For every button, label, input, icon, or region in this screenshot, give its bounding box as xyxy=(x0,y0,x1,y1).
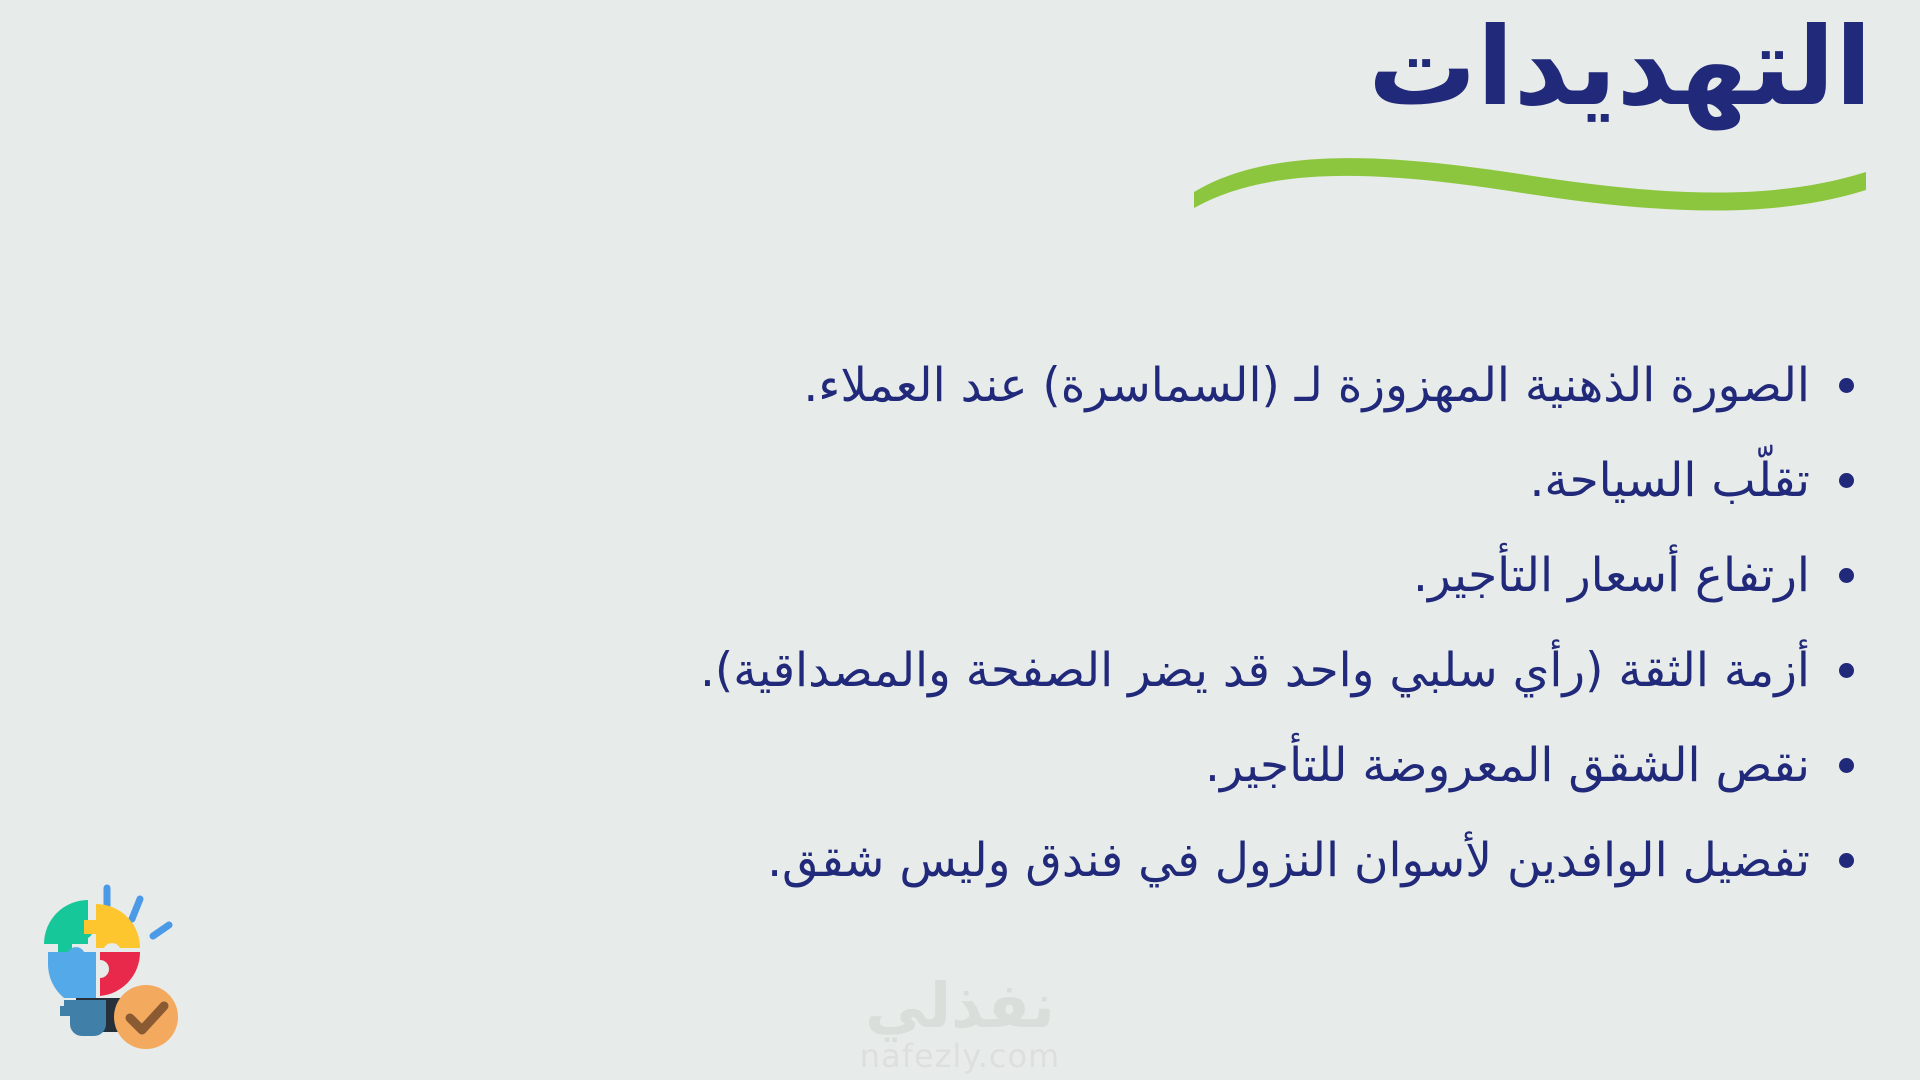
list-item: الصورة الذهنية المهزوزة لـ (السماسرة) عن… xyxy=(64,338,1864,433)
bullet-dot-icon xyxy=(1839,663,1854,678)
puzzle-lightbulb-svg xyxy=(24,882,214,1072)
bullet-dot-icon xyxy=(1839,473,1854,488)
check-badge-circle xyxy=(114,985,178,1049)
green-wave-divider-icon xyxy=(1190,150,1870,220)
slide-canvas: التهديدات الصورة الذهنية المهزوزة لـ (ال… xyxy=(0,0,1920,1080)
bullet-dot-icon xyxy=(1839,853,1854,868)
watermark: نفذلي nafezly.com xyxy=(0,975,1920,1074)
list-item: أزمة الثقة (رأي سلبي واحد قد يضر الصفحة … xyxy=(64,623,1864,718)
bullet-dot-icon xyxy=(1839,758,1854,773)
puzzle-piece-blue xyxy=(48,947,96,998)
list-item-label: ارتفاع أسعار التأجير. xyxy=(1413,548,1810,603)
list-item: نقص الشقق المعروضة للتأجير. xyxy=(64,718,1864,813)
title-block: التهديدات xyxy=(872,8,1872,129)
watermark-arabic-label: نفذلي xyxy=(0,975,1920,1037)
green-wave-svg xyxy=(1190,150,1870,220)
list-item: تقلّب السياحة. xyxy=(64,433,1864,528)
list-item: تفضيل الوافدين لأسوان النزول في فندق ولي… xyxy=(64,813,1864,908)
list-item-label: نقص الشقق المعروضة للتأجير. xyxy=(1205,738,1810,793)
list-item-label: الصورة الذهنية المهزوزة لـ (السماسرة) عن… xyxy=(803,358,1810,413)
watermark-domain-label: nafezly.com xyxy=(0,1039,1920,1074)
page-title: التهديدات xyxy=(872,8,1872,129)
list-item-label: تقلّب السياحة. xyxy=(1529,453,1810,508)
list-item-label: تفضيل الوافدين لأسوان النزول في فندق ولي… xyxy=(767,833,1810,888)
list-item-label: أزمة الثقة (رأي سلبي واحد قد يضر الصفحة … xyxy=(700,643,1810,698)
bullet-dot-icon xyxy=(1839,378,1854,393)
threats-bullet-list: الصورة الذهنية المهزوزة لـ (السماسرة) عن… xyxy=(64,338,1864,908)
puzzle-lightbulb-checkmark-icon xyxy=(24,882,214,1072)
bullet-dot-icon xyxy=(1839,568,1854,583)
bulb-base-blue xyxy=(60,1000,106,1036)
list-item: ارتفاع أسعار التأجير. xyxy=(64,528,1864,623)
